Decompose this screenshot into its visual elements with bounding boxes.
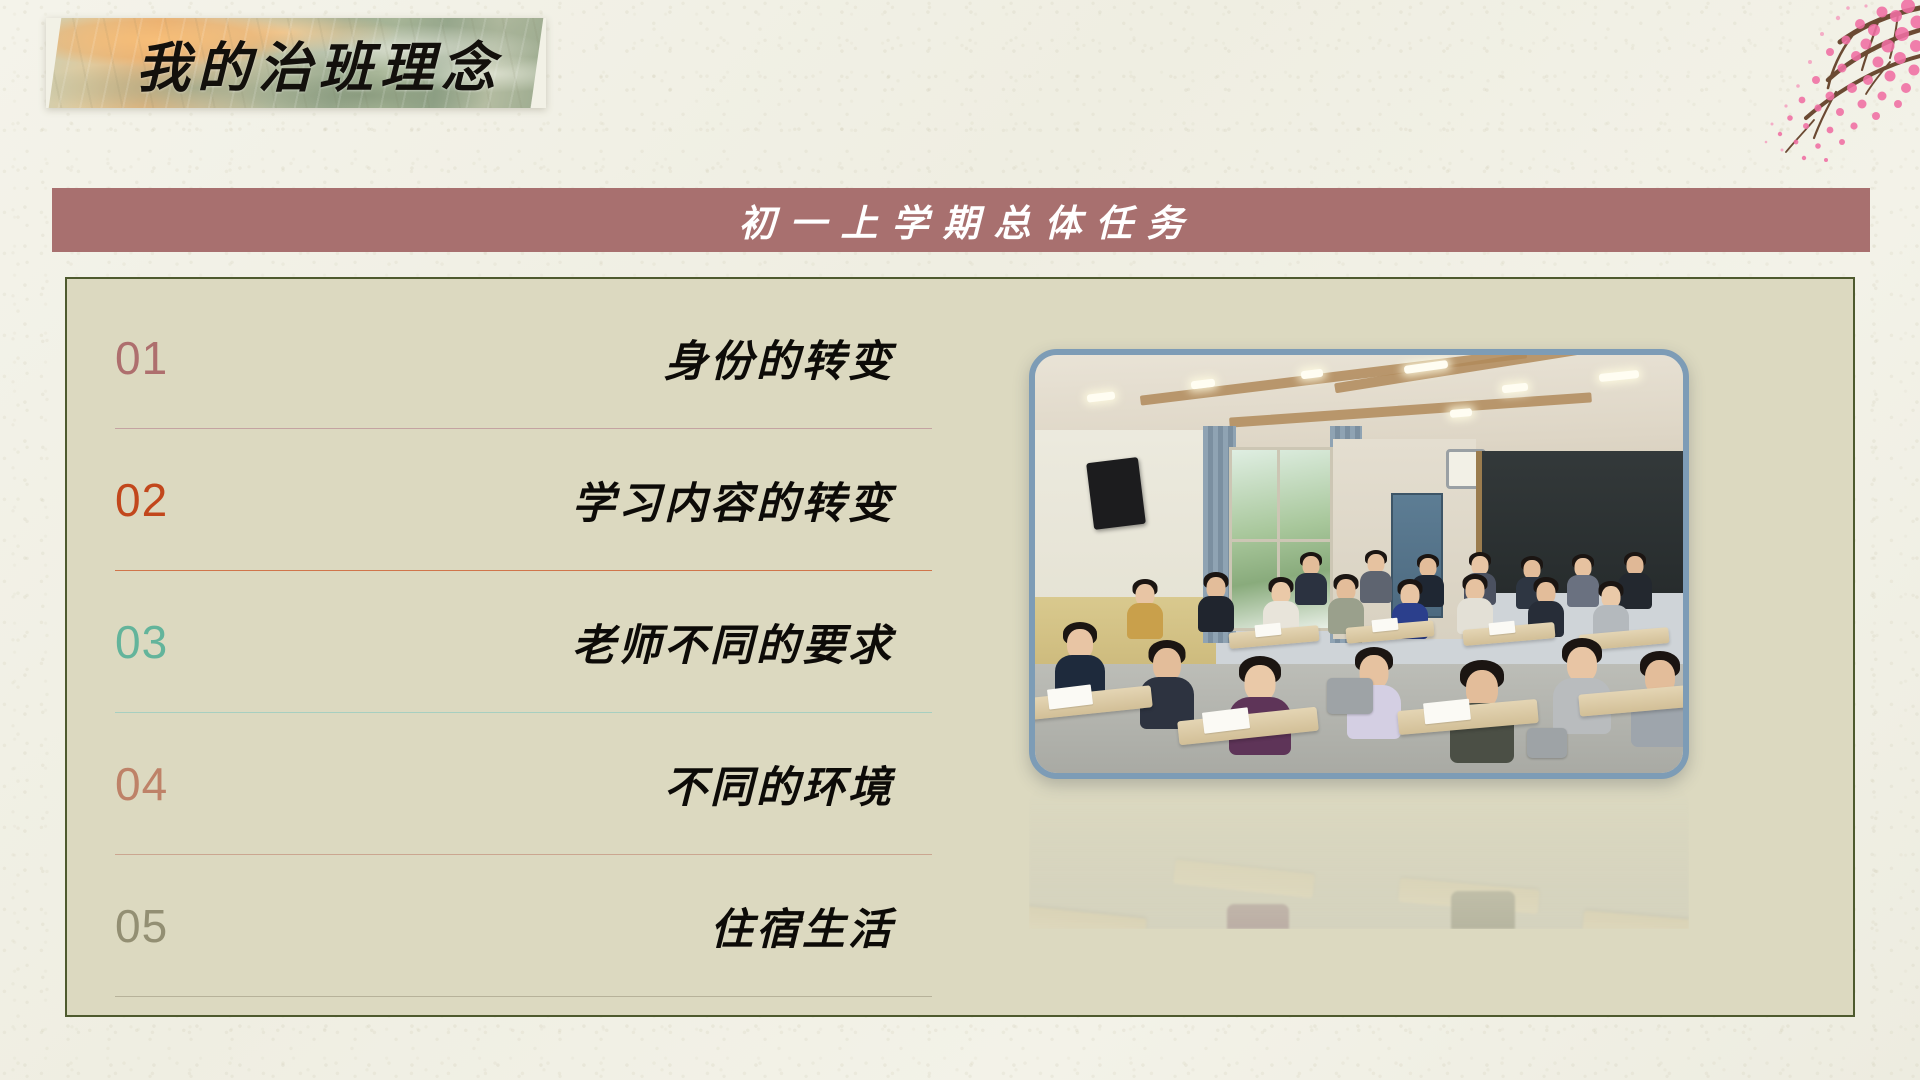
worksheet [1488, 620, 1515, 635]
cherry-blossom-decoration [1590, 0, 1920, 175]
section-header-bar: 初一上学期总体任务 [52, 188, 1870, 252]
student [1327, 574, 1365, 632]
students-area [1035, 547, 1683, 773]
classroom-photo-image [1035, 355, 1683, 773]
agenda-number-05: 05 [97, 899, 297, 953]
agenda-divider-05 [115, 996, 932, 997]
agenda-number-02: 02 [97, 473, 297, 527]
agenda-label-03: 老师不同的要求 [297, 611, 932, 673]
wall-speaker [1086, 457, 1146, 530]
agenda-list: 01 身份的转变 02 学习内容的转变 03 老师不同的要求 04 不同的环境 [97, 287, 932, 997]
slide-canvas: 我的治班理念 [0, 0, 1920, 1080]
classroom-photo-frame [1029, 349, 1689, 779]
agenda-label-04: 不同的环境 [297, 753, 932, 815]
slide-title: 我的治班理念 [46, 24, 546, 103]
agenda-number-03: 03 [97, 615, 297, 669]
cherry-blossom-icon [1590, 0, 1920, 175]
window-mullion [1232, 539, 1330, 542]
student [1126, 579, 1164, 637]
agenda-label-01: 身份的转变 [297, 327, 932, 389]
agenda-number-01: 01 [97, 331, 297, 385]
list-item[interactable]: 02 学习内容的转变 [97, 429, 932, 571]
section-header-title: 初一上学期总体任务 [725, 193, 1198, 247]
agenda-label-02: 学习内容的转变 [297, 469, 932, 531]
title-banner: 我的治班理念 [46, 18, 546, 108]
agenda-number-04: 04 [97, 757, 297, 811]
list-item[interactable]: 05 住宿生活 [97, 855, 932, 997]
photo-reflection [1029, 779, 1689, 929]
classroom-photo-block[interactable] [1029, 349, 1689, 779]
student [1139, 640, 1195, 726]
chair [1327, 678, 1373, 714]
chair [1527, 728, 1567, 758]
blossom-petal-specks [1765, 4, 1868, 151]
photo-reflection-image [1029, 779, 1689, 929]
list-item[interactable]: 04 不同的环境 [97, 713, 932, 855]
student [1197, 572, 1235, 630]
agenda-label-05: 住宿生活 [297, 895, 932, 957]
list-item[interactable]: 03 老师不同的要求 [97, 571, 932, 713]
worksheet [1423, 698, 1471, 724]
list-item[interactable]: 01 身份的转变 [97, 287, 932, 429]
blossom-cluster [1778, 0, 1920, 162]
